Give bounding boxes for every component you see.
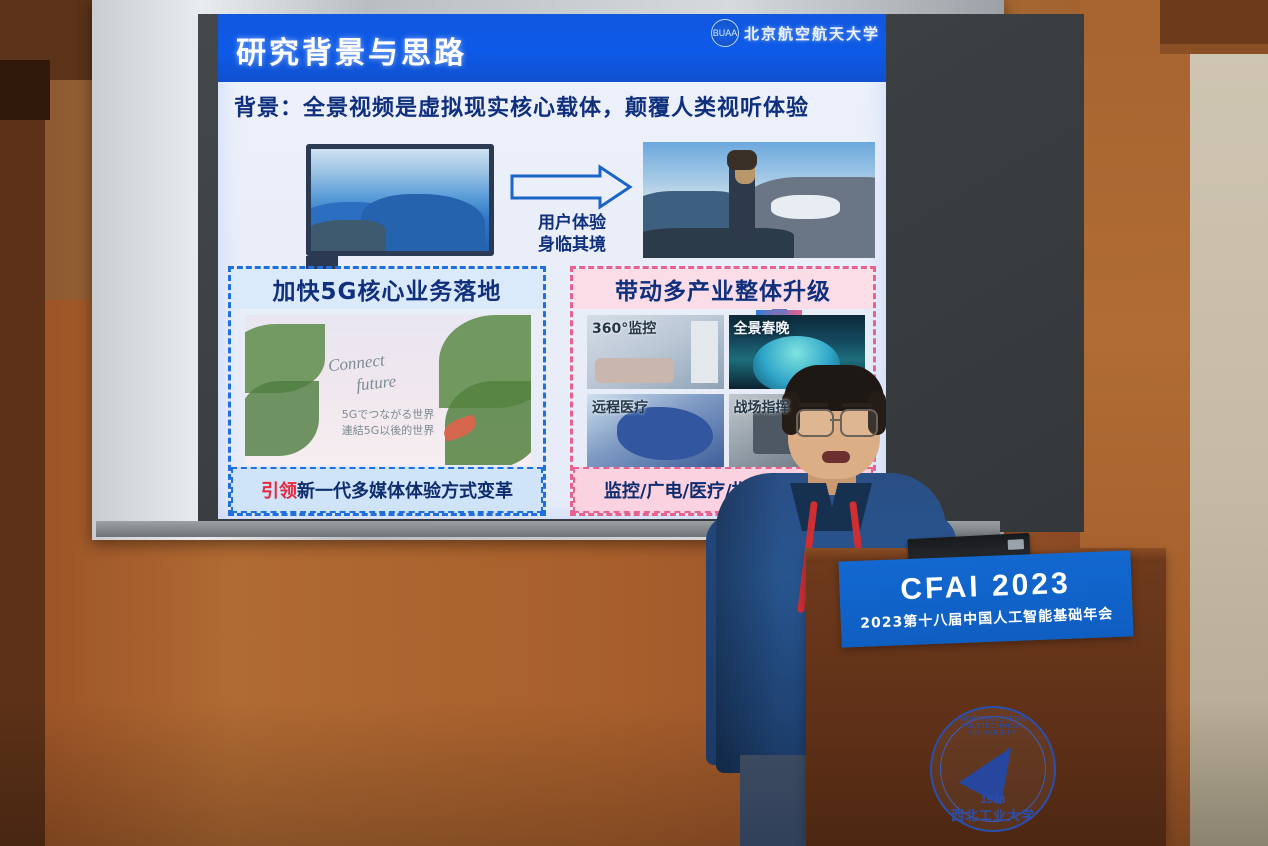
conference-subtitle: 2023第十八届中国人工智能基础年会 xyxy=(860,603,1114,633)
slide-title-bar: 研究背景与思路 BUAA 北京航空航天大学 xyxy=(218,14,886,82)
vr-experience-photo xyxy=(643,142,875,258)
panel-right-heading: 带动多产业整体升级 xyxy=(573,269,873,309)
mountain-shape xyxy=(311,220,386,251)
emblem-chinese-name: 西北工业大学 xyxy=(951,805,1035,824)
grid-cell-label: 360°监控 xyxy=(592,318,656,338)
flow-arrow-group: 用户体验 身临其境 xyxy=(508,164,636,256)
glasses-bridge xyxy=(830,419,840,421)
ceiling-beam-edge xyxy=(1160,44,1268,54)
glasses-icon-right xyxy=(840,409,878,437)
conference-sign: CFAI 2023 2023第十八届中国人工智能基础年会 xyxy=(838,550,1133,647)
advert-script-text: Connect future xyxy=(327,343,451,399)
laptop-badge-icon xyxy=(1008,539,1025,550)
photo-foreground-rock xyxy=(643,228,794,258)
arrow-caption-line2: 身临其境 xyxy=(522,234,622,256)
glasses-icon xyxy=(796,409,834,437)
slide-subtitle: 背景：全景视频是虚拟现实核心载体，颠覆人类视听体验 xyxy=(234,90,874,122)
cell-sofa-shape xyxy=(595,358,674,383)
speaker-shirt-shadow xyxy=(716,473,780,773)
speaker-eyebrow-right xyxy=(842,403,872,407)
grid-cell-label: 全景春晚 xyxy=(734,318,790,338)
university-seal-icon: BUAA xyxy=(711,19,739,47)
grid-cell-label: 战场指挥 xyxy=(734,397,790,417)
panel-left-heading: 加快5G核心业务落地 xyxy=(231,269,543,309)
nwpu-emblem: NORTHWESTERN POLYTECHNICAL UNIVERSITY 19… xyxy=(930,706,1056,832)
panel-left-advert-image: Connect future 5Gでつながる世界 連結5G以後的世界 xyxy=(245,315,531,465)
wall-dark-inset xyxy=(0,60,50,120)
vr-headset-icon xyxy=(727,150,757,170)
photo-snow xyxy=(771,195,841,218)
panel-left-footer-highlight: 引领 xyxy=(261,477,297,503)
speaker-eyebrow-left xyxy=(798,403,828,407)
monitor-screen xyxy=(311,149,489,251)
panel-5g-core-business[interactable]: 加快5G核心业务落地 Connect future 5Gでつながる世界 連結5G… xyxy=(228,266,546,516)
monitor-bezel xyxy=(306,144,494,256)
grid-cell-label: 远程医疗 xyxy=(592,397,648,417)
conference-room-scene: 研究背景与思路 BUAA 北京航空航天大学 背景：全景视频是虚拟现实核心载体，颠… xyxy=(0,0,1268,846)
emblem-english-text: NORTHWESTERN POLYTECHNICAL UNIVERSITY xyxy=(939,716,1047,737)
speaker-mouth xyxy=(822,451,850,463)
conference-name: CFAI 2023 xyxy=(900,567,1072,608)
page-title: 研究背景与思路 xyxy=(236,28,467,72)
monitor-illustration xyxy=(306,144,494,256)
right-arrow-icon xyxy=(508,164,636,210)
panel-left-footer-rest: 新一代多媒体体验方式变革 xyxy=(297,477,513,503)
panel-left-footer: 引领新一代多媒体体验方式变革 xyxy=(231,467,543,513)
arrow-caption-line1: 用户体验 xyxy=(522,212,622,234)
university-logo: BUAA 北京航空航天大学 xyxy=(711,18,880,48)
university-name: 北京航空航天大学 xyxy=(744,23,880,44)
arrow-caption: 用户体验 身临其境 xyxy=(522,212,622,256)
